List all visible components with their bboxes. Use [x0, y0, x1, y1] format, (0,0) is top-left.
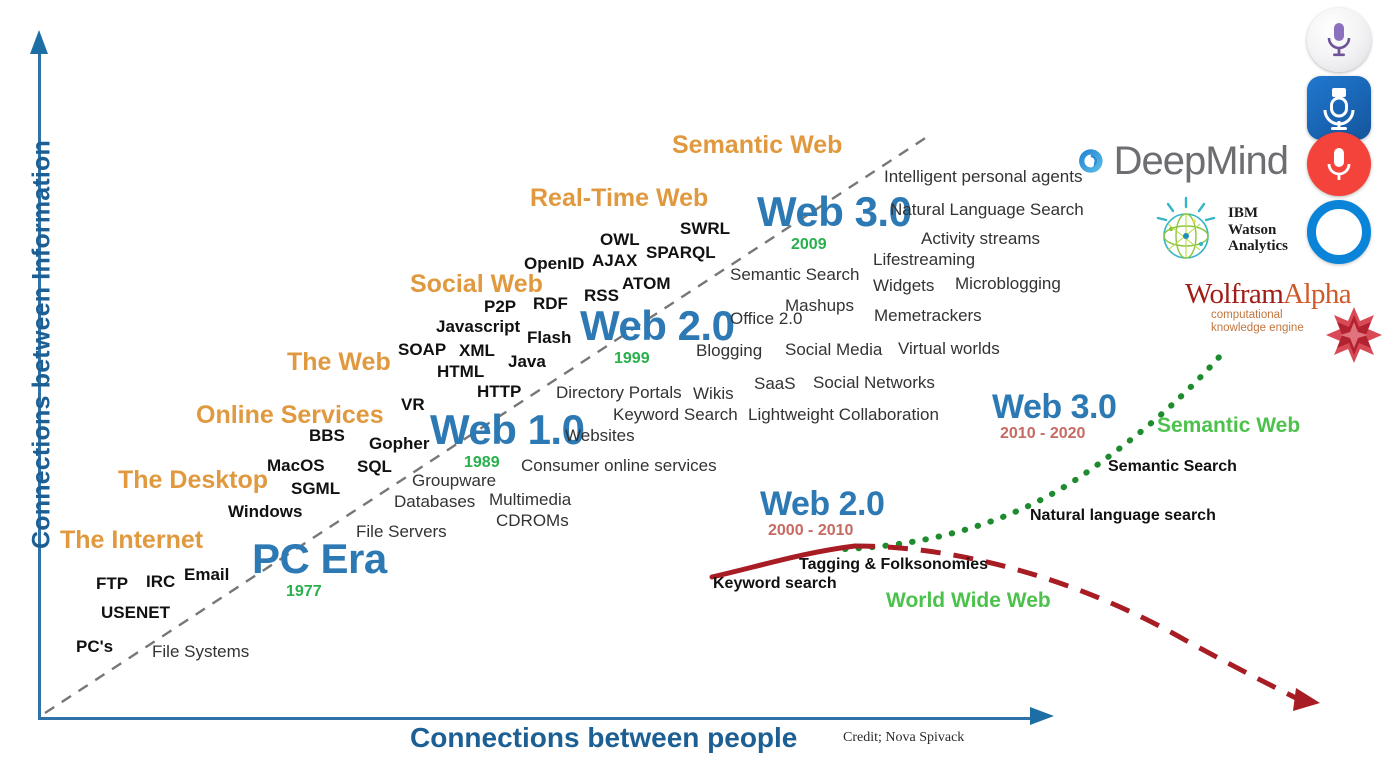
cortana-ring-icon[interactable] — [1307, 200, 1371, 264]
web-generation-web-3-0: Web 3.0 — [757, 191, 911, 233]
wolfram-spikey-icon — [1325, 306, 1383, 364]
tech-label-macos: MacOS — [267, 457, 325, 474]
tech-label-file-systems: File Systems — [152, 643, 249, 660]
curve-generation-year-web-2-0-range: 2000 - 2010 — [768, 523, 853, 539]
tech-label-soap: SOAP — [398, 341, 446, 358]
curve-label-world-wide-web: World Wide Web — [886, 590, 1051, 611]
siri-icon[interactable] — [1307, 8, 1371, 72]
era-label-online-services: Online Services — [196, 403, 384, 428]
tech-label-mashups: Mashups — [785, 297, 854, 314]
red-curve-arrow-icon — [1293, 688, 1320, 711]
tech-label-wikis: Wikis — [693, 385, 734, 402]
web-generation-year-pc-era: 1977 — [286, 584, 322, 600]
era-label-the-internet: The Internet — [60, 528, 203, 553]
tech-label-websites: Websites — [565, 427, 635, 444]
tech-label-memetrackers: Memetrackers — [874, 307, 982, 324]
tech-label-activity-streams: Activity streams — [921, 230, 1040, 247]
tech-label-p2p: P2P — [484, 298, 516, 315]
tech-label-social-networks: Social Networks — [813, 374, 935, 391]
tech-label-keyword-search: Keyword Search — [613, 406, 738, 423]
diagram-canvas: Connections between Information Connecti… — [0, 0, 1390, 761]
tech-label-html: HTML — [437, 363, 484, 380]
tech-label-groupware: Groupware — [412, 472, 496, 489]
web-generation-year-web-1-0: 1989 — [464, 455, 500, 471]
tech-label-lightweight-collaboration: Lightweight Collaboration — [748, 406, 939, 423]
deepmind-wordmark: DeepMind — [1114, 139, 1288, 184]
tech-label-openid: OpenID — [524, 255, 584, 272]
tech-label-lifestreaming: Lifestreaming — [873, 251, 975, 268]
tech-label-windows: Windows — [228, 503, 302, 520]
tech-label-sparql: SPARQL — [646, 244, 716, 261]
tech-label-irc: IRC — [146, 573, 175, 590]
era-label-social-web: Social Web — [410, 272, 543, 297]
tech-label-databases: Databases — [394, 493, 475, 510]
curve-label-semantic-web: Semantic Web — [1157, 415, 1300, 436]
curve-label-semantic-search: Semantic Search — [1108, 459, 1237, 475]
y-axis-label: Connections between Information — [28, 135, 57, 555]
x-axis-label: Connections between people — [410, 722, 797, 754]
era-label-the-desktop: The Desktop — [118, 468, 268, 493]
tech-label-virtual-worlds: Virtual worlds — [898, 340, 1000, 357]
tech-label-microblogging: Microblogging — [955, 275, 1061, 292]
tech-label-atom: ATOM — [622, 275, 670, 292]
tech-label-social-media: Social Media — [785, 341, 882, 358]
google-mic-icon[interactable] — [1307, 132, 1371, 196]
tech-label-consumer-online-services: Consumer online services — [521, 457, 717, 474]
tech-label-sql: SQL — [357, 458, 392, 475]
tech-label-javascript: Javascript — [436, 318, 520, 335]
tech-label-natural-language-search: Natural Language Search — [890, 201, 1084, 218]
web-generation-pc-era: PC Era — [252, 538, 387, 580]
web-generation-web-1-0: Web 1.0 — [430, 409, 584, 451]
deepmind-spiral-icon — [1078, 137, 1104, 185]
watson-line-1: IBM — [1228, 205, 1288, 222]
watson-globe-icon — [1150, 194, 1222, 266]
tech-label-multimedia: Multimedia — [489, 491, 571, 508]
microphone-icon — [1324, 145, 1354, 183]
tech-label-owl: OWL — [600, 231, 640, 248]
y-axis-arrow-icon — [30, 30, 48, 54]
tech-label-swrl: SWRL — [680, 220, 730, 237]
tech-label-rdf: RDF — [533, 295, 568, 312]
wolfram-alpha-logo: WolframAlpha computational knowledge eng… — [1185, 278, 1385, 350]
tech-label-ajax: AJAX — [592, 252, 637, 269]
tech-label-cdroms: CDROMs — [496, 512, 569, 529]
microphone-icon — [1307, 76, 1371, 140]
tech-label-email: Email — [184, 566, 229, 583]
tech-label-semantic-search: Semantic Search — [730, 266, 859, 283]
bing-mic-icon[interactable] — [1307, 76, 1371, 140]
tech-label-http: HTTP — [477, 383, 521, 400]
curve-label-keyword-search: Keyword search — [713, 576, 837, 592]
tech-label-xml: XML — [459, 342, 495, 359]
curve-label-tagging-folksonomies: Tagging & Folksonomies — [799, 557, 988, 573]
curve-generation-year-web-3-0-range: 2010 - 2020 — [1000, 426, 1085, 442]
tech-label-directory-portals: Directory Portals — [556, 384, 682, 401]
era-label-the-web: The Web — [287, 350, 391, 375]
x-axis-arrow-icon — [1030, 707, 1054, 725]
web-generation-year-web-2-0: 1999 — [614, 351, 650, 367]
tech-label-widgets: Widgets — [873, 277, 934, 294]
curve-generation-web-2-0-range: Web 2.0 — [760, 487, 884, 521]
microphone-icon — [1324, 21, 1354, 59]
tech-label-blogging: Blogging — [696, 342, 762, 359]
curve-label-natural-language-search: Natural language search — [1030, 508, 1216, 524]
x-axis-line — [38, 717, 1038, 720]
ibm-watson-logo: IBM Watson Analytics — [1150, 192, 1300, 268]
tech-label-file-servers: File Servers — [356, 523, 447, 540]
tech-label-gopher: Gopher — [369, 435, 429, 452]
watson-wordmark: IBM Watson Analytics — [1228, 205, 1288, 255]
deepmind-logo: DeepMind — [1078, 133, 1288, 189]
credit-text: Credit; Nova Spivack — [843, 730, 964, 746]
tech-label-usenet: USENET — [101, 604, 170, 621]
tech-label-sgml: SGML — [291, 480, 340, 497]
era-label-semantic-web: Semantic Web — [672, 133, 842, 158]
tech-label-saas: SaaS — [754, 375, 796, 392]
tech-label-flash: Flash — [527, 329, 571, 346]
curve-generation-web-3-0-range: Web 3.0 — [992, 390, 1116, 424]
tech-label-bbs: BBS — [309, 427, 345, 444]
watson-line-3: Analytics — [1228, 238, 1288, 255]
web-generation-year-web-3-0: 2009 — [791, 237, 827, 253]
tech-label-java: Java — [508, 353, 546, 370]
tech-label-rss: RSS — [584, 287, 619, 304]
tech-label-ftp: FTP — [96, 575, 128, 592]
wolfram-word-1: Wolfram — [1185, 278, 1283, 310]
tech-label-intelligent-personal-agents: Intelligent personal agents — [884, 168, 1082, 185]
watson-line-2: Watson — [1228, 222, 1288, 239]
tech-label-pc-s: PC's — [76, 638, 113, 655]
era-label-real-time-web: Real-Time Web — [530, 186, 708, 211]
tech-label-vr: VR — [401, 396, 425, 413]
